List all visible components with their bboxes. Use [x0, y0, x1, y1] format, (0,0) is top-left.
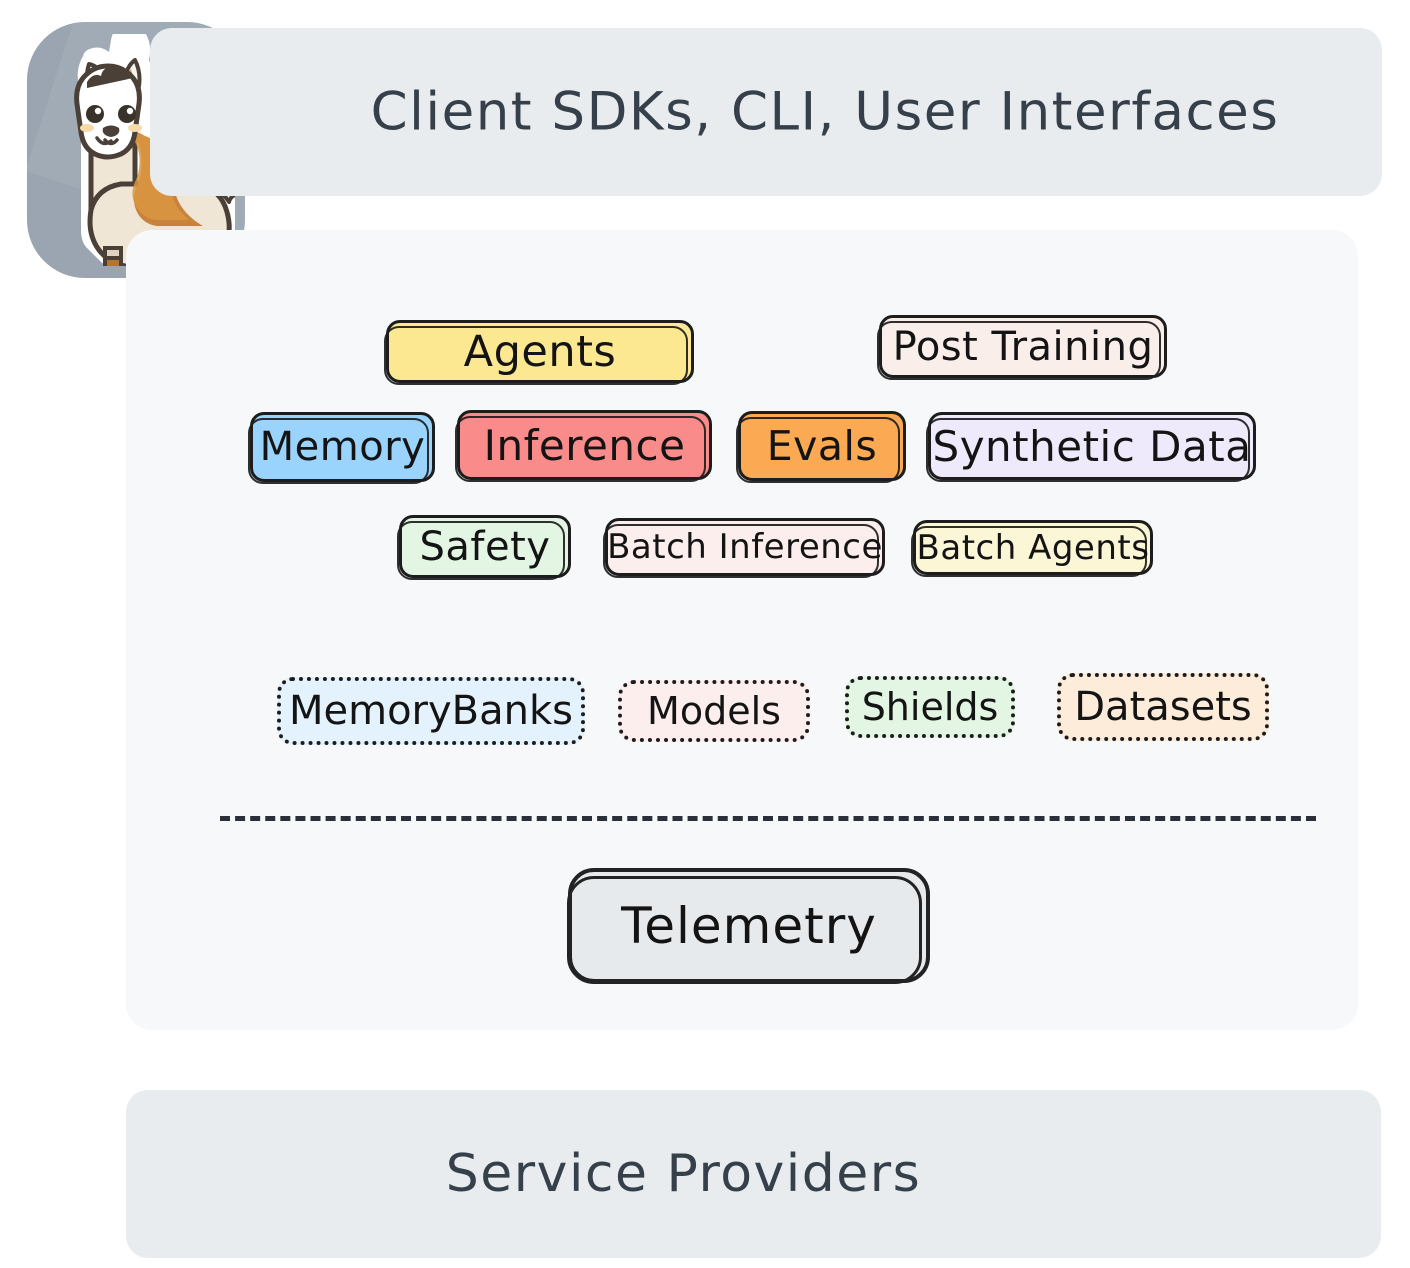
api-box-agents[interactable]: Agents [386, 320, 694, 383]
api-box-label: Batch Agents [917, 528, 1150, 568]
api-box-synthetic-data[interactable]: Synthetic Data [928, 412, 1256, 480]
resource-box-label: Models [647, 689, 781, 733]
api-box-label: Batch Inference [607, 527, 883, 567]
api-box-memory[interactable]: Memory [250, 412, 435, 482]
resource-box-label: Shields [862, 685, 999, 729]
resource-box-models[interactable]: Models [618, 680, 810, 742]
api-box-inference[interactable]: Inference [457, 410, 712, 480]
api-box-label: Agents [464, 327, 617, 377]
section-divider [220, 816, 1316, 821]
api-box-post-training[interactable]: Post Training [879, 315, 1167, 378]
api-box-batch-inference[interactable]: Batch Inference [605, 518, 885, 576]
telemetry-label: Telemetry [621, 897, 877, 955]
service-providers-bar: Service Providers [126, 1090, 1381, 1258]
api-box-safety[interactable]: Safety [399, 515, 571, 578]
api-box-label: Synthetic Data [933, 422, 1252, 471]
service-providers-label: Service Providers [126, 1144, 1381, 1204]
api-box-label: Inference [484, 421, 686, 470]
resource-box-label: MemoryBanks [289, 688, 573, 734]
resource-box-label: Datasets [1074, 684, 1251, 730]
resource-box-datasets[interactable]: Datasets [1057, 673, 1269, 741]
client-interfaces-bar: Client SDKs, CLI, User Interfaces [150, 28, 1382, 196]
telemetry-box[interactable]: Telemetry [568, 868, 930, 983]
api-box-label: Memory [260, 424, 426, 470]
api-box-label: Evals [767, 422, 878, 470]
api-box-label: Post Training [893, 324, 1154, 370]
api-box-label: Safety [420, 524, 551, 570]
resource-box-shields[interactable]: Shields [845, 676, 1015, 738]
client-interfaces-label: Client SDKs, CLI, User Interfaces [150, 82, 1382, 143]
resource-box-memorybanks[interactable]: MemoryBanks [277, 677, 585, 745]
api-box-evals[interactable]: Evals [738, 411, 906, 481]
api-box-batch-agents[interactable]: Batch Agents [913, 520, 1153, 575]
